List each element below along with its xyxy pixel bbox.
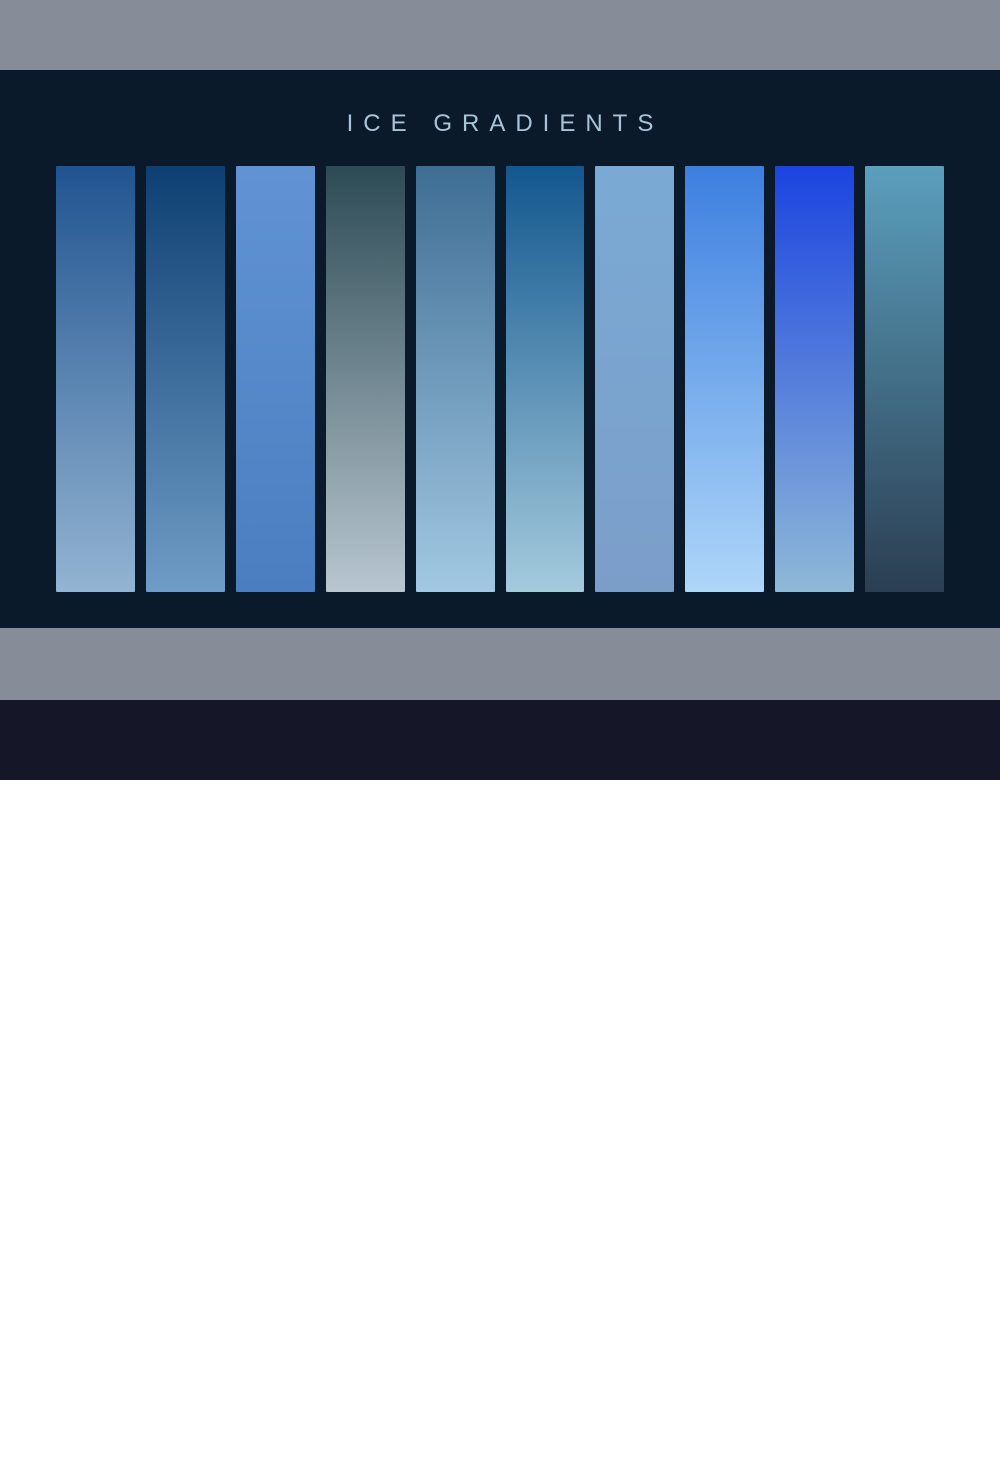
gradient-swatch[interactable] <box>865 166 944 592</box>
footer-bar: VectorStock® VectorStock.com/21353855 <box>0 700 1000 780</box>
poster-canvas: ICE GRADIENTS VectorStock® VectorStock.c… <box>0 0 1000 780</box>
source-url: VectorStock.com/21353855 <box>693 1430 974 1457</box>
bottom-gray-band <box>0 628 1000 700</box>
artboard: ICE GRADIENTS <box>0 70 1000 628</box>
registered-trademark-icon: ® <box>245 1426 257 1443</box>
gradient-swatch[interactable] <box>595 166 674 592</box>
vectorstock-logo: VectorStock® <box>28 1416 257 1464</box>
page-title: ICE GRADIENTS <box>0 110 1000 138</box>
top-gray-band <box>0 0 1000 70</box>
gradient-swatch-strip <box>56 166 944 592</box>
gradient-swatch[interactable] <box>775 166 854 592</box>
gradient-swatch[interactable] <box>146 166 225 592</box>
logo-word-stock: Stock <box>138 1418 244 1462</box>
gradient-swatch[interactable] <box>685 166 764 592</box>
logo-word-vector: Vector <box>28 1418 138 1462</box>
gradient-swatch[interactable] <box>506 166 585 592</box>
gradient-swatch[interactable] <box>416 166 495 592</box>
gradient-swatch[interactable] <box>326 166 405 592</box>
gradient-swatch[interactable] <box>56 166 135 592</box>
gradient-swatch[interactable] <box>236 166 315 592</box>
